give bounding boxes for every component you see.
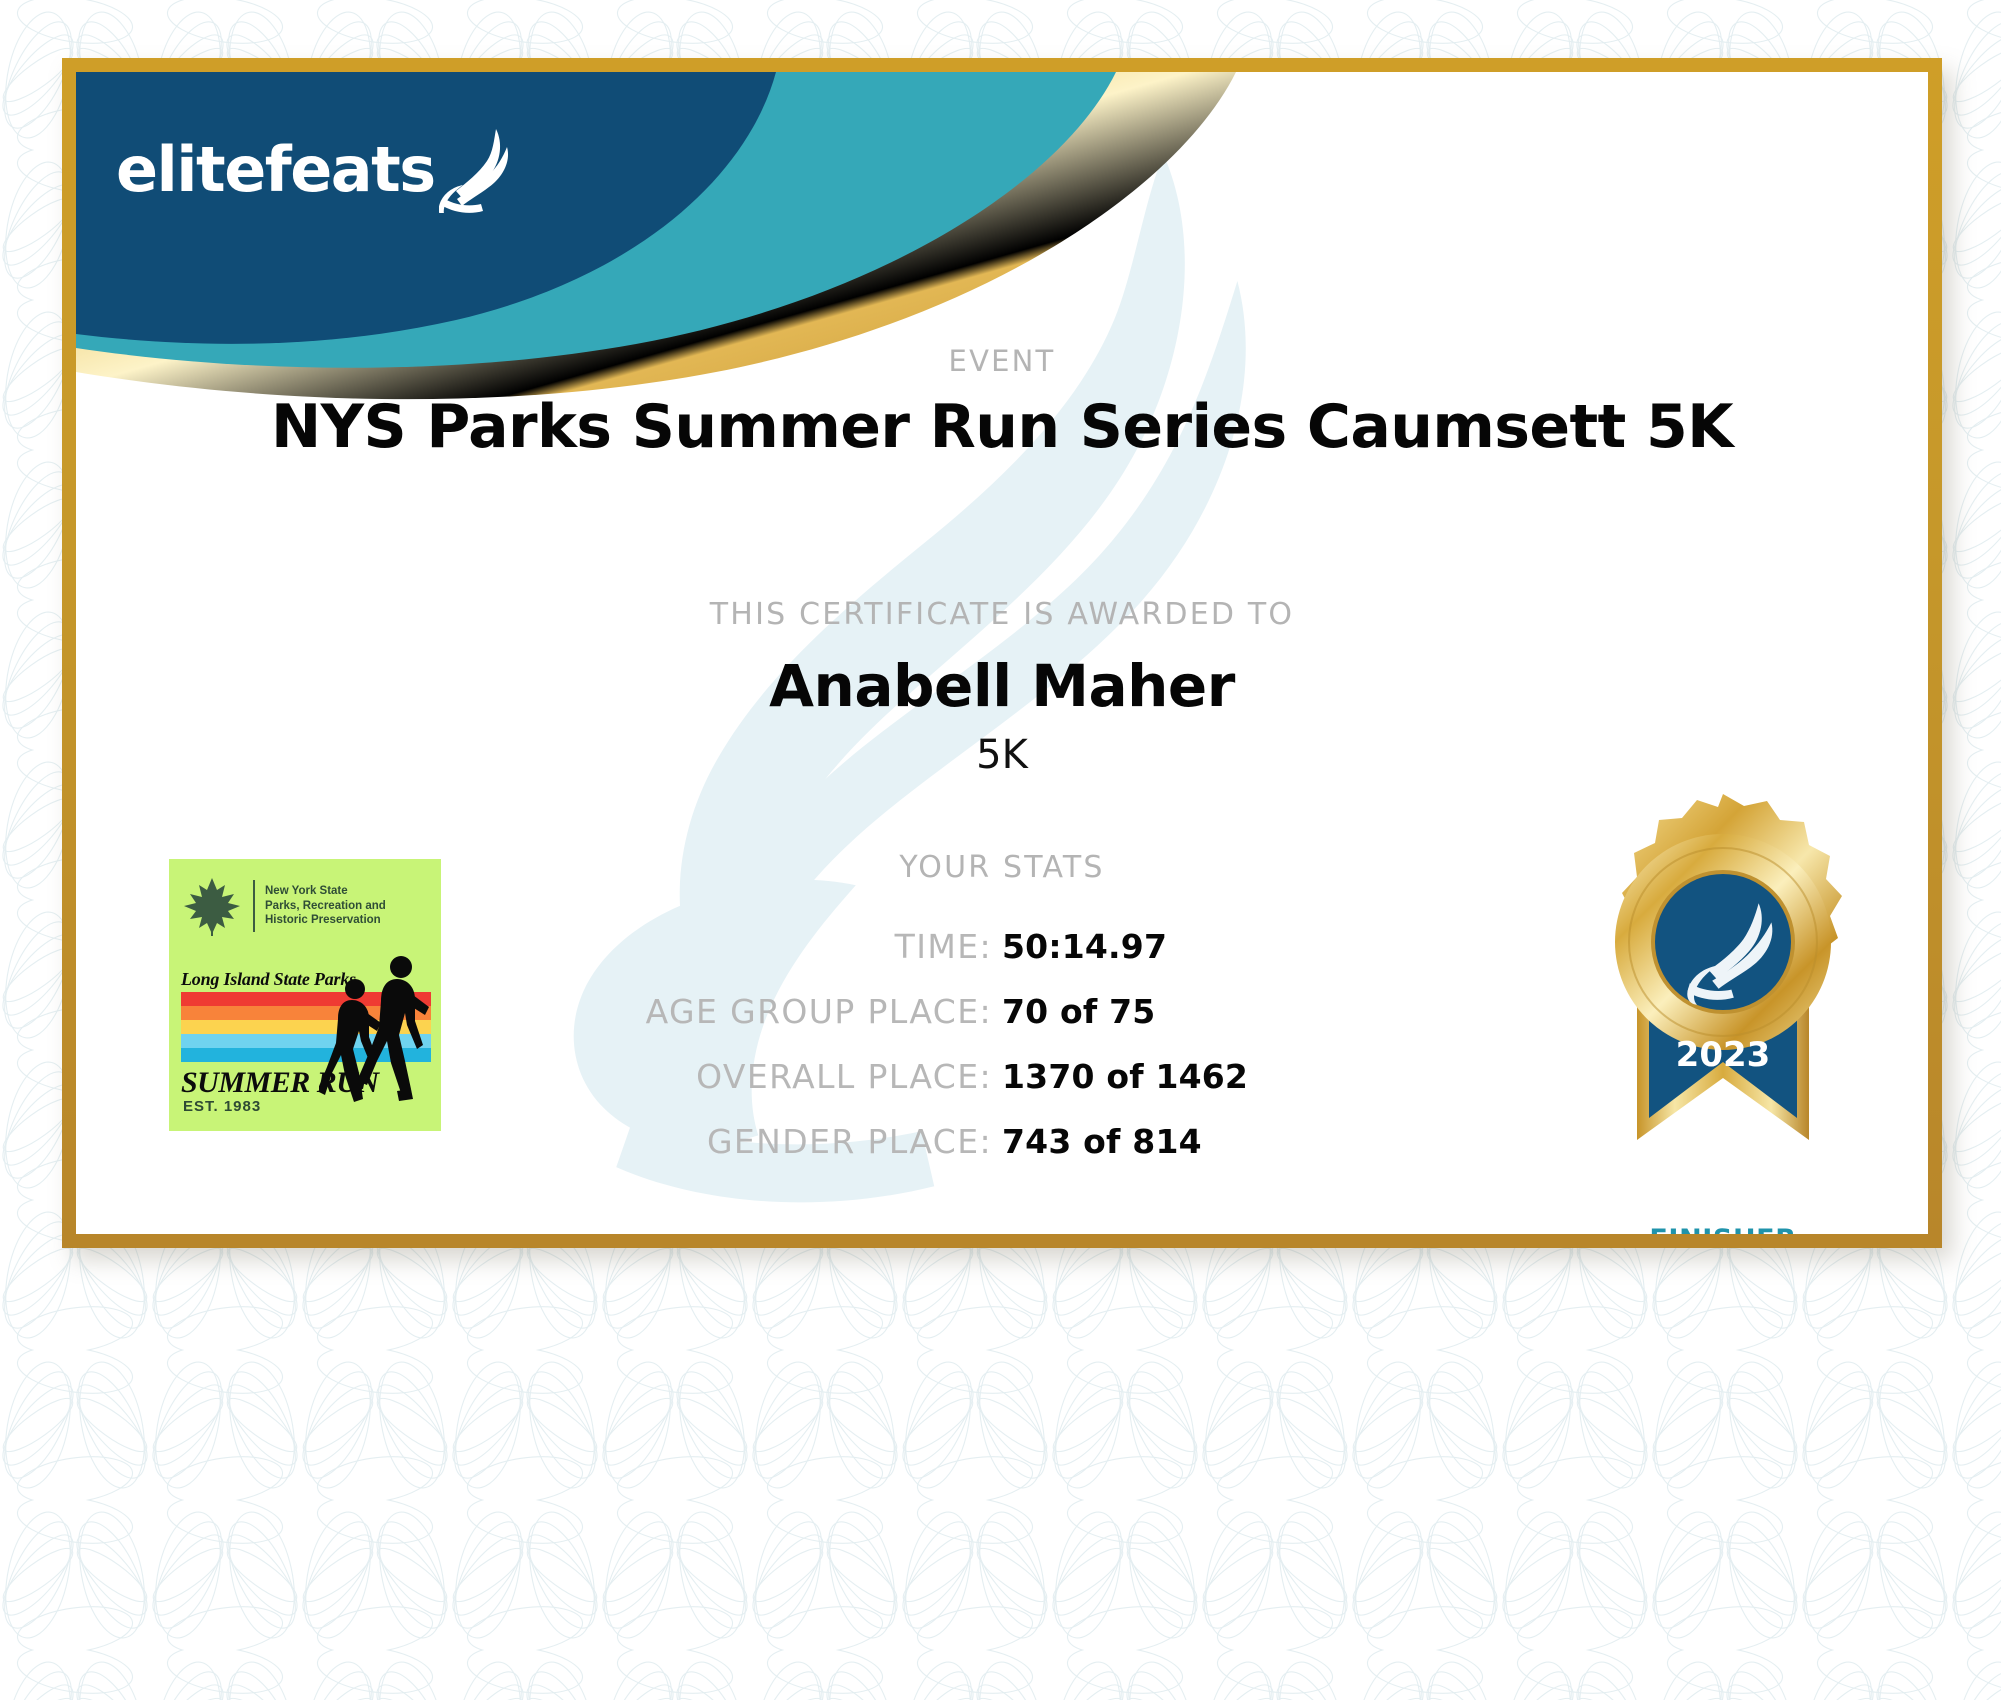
agency-line-2: Parks, Recreation and (265, 899, 386, 914)
agency-name: New York State Parks, Recreation and His… (265, 884, 386, 928)
stat-value-gender-place: 743 of 814 (1002, 1122, 1562, 1161)
certificate-gold-border: elitefeats EVENT NYS Parks Summer Run Se… (62, 58, 1942, 1248)
recipient-name: Anabell Maher (76, 652, 1928, 720)
medal-graphic: 2023 (1563, 792, 1883, 1212)
stat-value-age-group-place: 70 of 75 (1002, 992, 1562, 1031)
stat-label-age-group-place: AGE GROUP PLACE: (442, 992, 1002, 1031)
agency-line-3: Historic Preservation (265, 913, 386, 928)
event-title: NYS Parks Summer Run Series Caumsett 5K (76, 392, 1928, 462)
stat-value-overall-place: 1370 of 1462 (1002, 1057, 1562, 1096)
certificate-page: elitefeats EVENT NYS Parks Summer Run Se… (0, 0, 2001, 1700)
finisher-caption: FINISHER CERTIFICATE (1563, 1225, 1883, 1234)
finisher-medal: 2023 FINISHER CERTIFICATE (1563, 792, 1883, 1234)
recipient-distance: 5K (76, 732, 1928, 778)
winged-foot-icon (439, 127, 517, 213)
stat-label-time: TIME: (442, 927, 1002, 966)
awarded-to-label: THIS CERTIFICATE IS AWARDED TO (76, 597, 1928, 632)
stat-label-overall-place: OVERALL PLACE: (442, 1057, 1002, 1096)
nys-parks-summer-run-logo: New York State Parks, Recreation and His… (169, 859, 441, 1131)
agency-line-1: New York State (265, 884, 386, 899)
stat-label-gender-place: GENDER PLACE: (442, 1122, 1002, 1161)
event-label: EVENT (76, 344, 1928, 378)
medal-year: 2023 (1676, 1035, 1771, 1075)
finisher-caption-line-1: FINISHER (1563, 1225, 1883, 1234)
maple-leaf-icon (181, 875, 243, 937)
certificate-body: elitefeats EVENT NYS Parks Summer Run Se… (76, 72, 1928, 1234)
brand-logo: elitefeats (116, 127, 517, 213)
stat-value-time: 50:14.97 (1002, 927, 1562, 966)
logo-divider (253, 880, 255, 932)
brand-wordmark: elitefeats (116, 139, 435, 201)
runners-silhouette-icon (319, 949, 439, 1129)
